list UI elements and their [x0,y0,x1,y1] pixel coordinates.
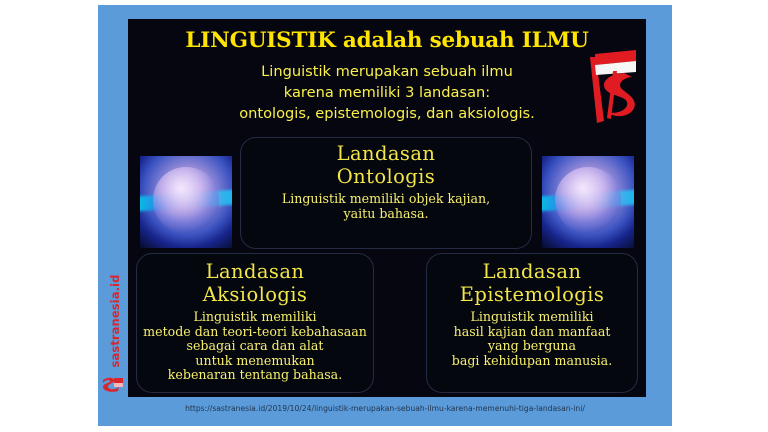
slide-stage: LINGUISTIK adalah sebuah ILMU Linguistik… [0,0,768,432]
panel-ontologis-body-line-2: yaitu bahasa. [241,207,531,222]
panel-epistemologis-heading: Landasan Epistemologis [427,254,637,306]
indonesian-flag-s-logo-icon [580,47,642,125]
panel-ontologis-heading-line2: Ontologis [241,165,531,188]
panel-ontologis-body-line-1: Linguistik memiliki objek kajian, [241,192,531,207]
blue-card-frame: LINGUISTIK adalah sebuah ILMU Linguistik… [98,5,672,426]
panel-epistemologis-body: Linguistik memiliki hasil kajian dan man… [427,310,637,368]
panel-aksiologis-body-line-4: untuk menemukan [137,354,373,369]
panel-aksiologis-heading: Landasan Aksiologis [137,254,373,306]
panel-aksiologis-body-line-2: metode dan teori-teori kebahasaan [137,325,373,340]
lead-line-1: Linguistik merupakan sebuah ilmu [128,61,646,82]
panel-ontologis-heading: Landasan Ontologis [241,138,531,188]
panel-epistemologis: Landasan Epistemologis Linguistik memili… [426,253,638,393]
panel-ontologis-heading-line1: Landasan [241,142,531,165]
panel-aksiologis-heading-line2: Aksiologis [137,283,373,306]
panel-ontologis: Landasan Ontologis Linguistik memiliki o… [240,137,532,249]
panel-ontologis-body: Linguistik memiliki objek kajian, yaitu … [241,192,531,221]
panel-epistemologis-heading-line2: Epistemologis [427,283,637,306]
panel-epistemologis-body-line-3: yang berguna [427,339,637,354]
watermark-text: sastranesia.id [108,273,122,369]
panel-aksiologis-body: Linguistik memiliki metode dan teori-teo… [137,310,373,383]
sastranesia-logo-icon [101,376,125,392]
panel-epistemologis-body-line-4: bagi kehidupan manusia. [427,354,637,369]
presentation-slide: LINGUISTIK adalah sebuah ILMU Linguistik… [128,19,646,397]
watermark: sastranesia.id [99,268,129,392]
panel-epistemologis-heading-line1: Landasan [427,260,637,283]
lead-paragraph: Linguistik merupakan sebuah ilmu karena … [128,61,646,124]
lead-line-3: ontologis, epistemologis, dan aksiologis… [128,103,646,124]
globe-image-left [140,156,232,248]
panel-aksiologis-body-line-3: sebagai cara dan alat [137,339,373,354]
page-title: LINGUISTIK adalah sebuah ILMU [128,28,646,53]
panel-aksiologis-body-line-1: Linguistik memiliki [137,310,373,325]
panel-epistemologis-body-line-1: Linguistik memiliki [427,310,637,325]
panel-aksiologis-heading-line1: Landasan [137,260,373,283]
panel-aksiologis: Landasan Aksiologis Linguistik memiliki … [136,253,374,393]
globe-image-right [542,156,634,248]
lead-line-2: karena memiliki 3 landasan: [128,82,646,103]
panel-epistemologis-body-line-2: hasil kajian dan manfaat [427,325,637,340]
panel-aksiologis-body-line-5: kebenaran tentang bahasa. [137,368,373,383]
source-url-caption: https://sastranesia.id/2019/10/24/lingui… [98,404,672,413]
